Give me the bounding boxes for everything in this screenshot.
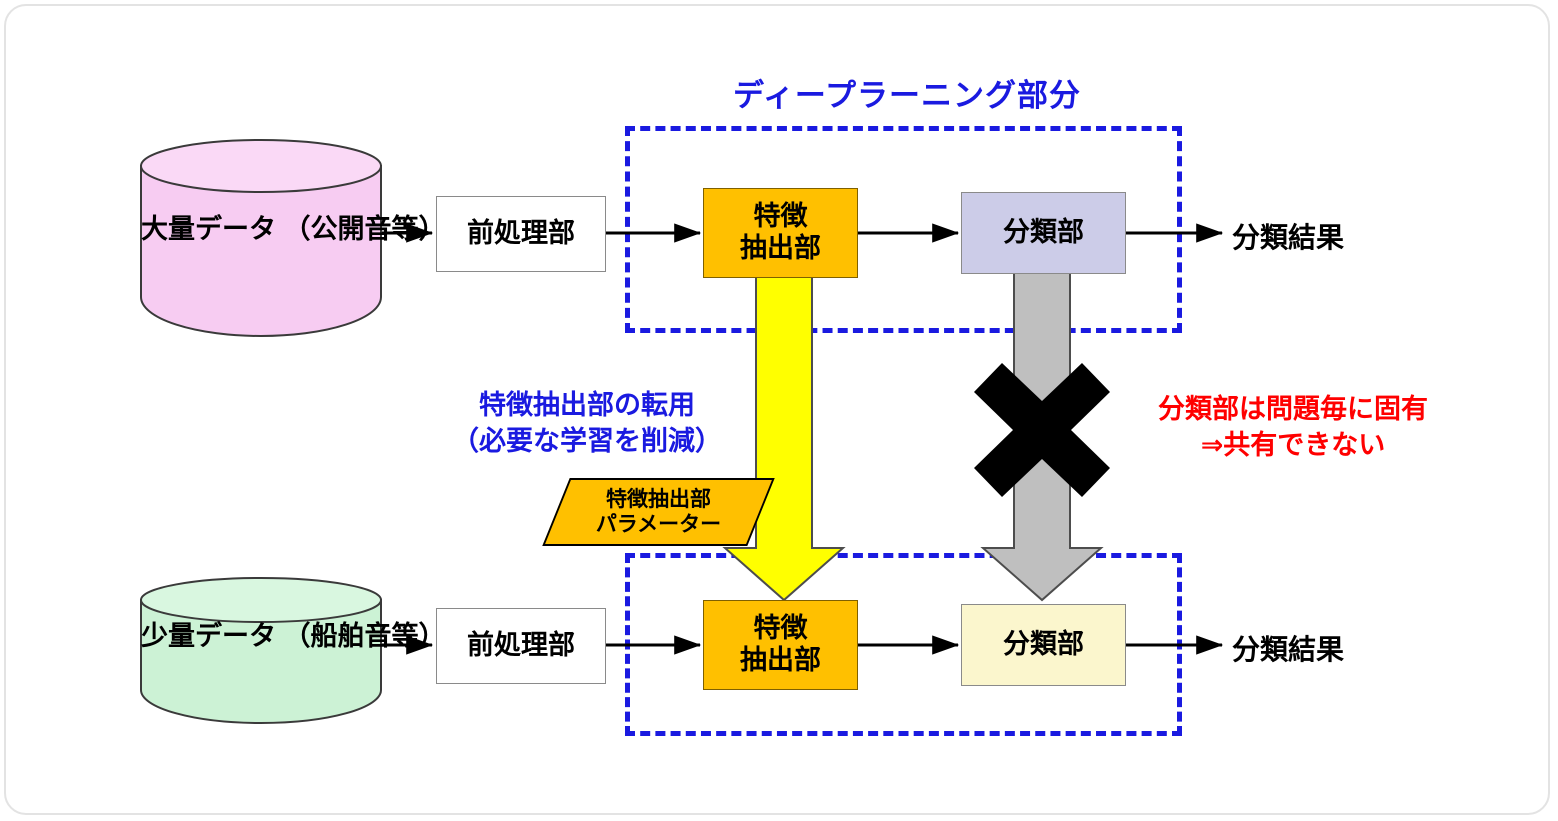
- transfer-note: 特徴抽出部の転用 （必要な学習を削減）: [424, 388, 750, 459]
- parameter-tag-label: 特徴抽出部 パラメーター: [556, 478, 761, 546]
- parameter-tag: 特徴抽出部 パラメーター: [556, 478, 761, 546]
- feature-extractor-box-bottom[interactable]: 特徴 抽出部: [703, 600, 858, 690]
- diagram-canvas: ディープラーニング部分: [0, 0, 1558, 821]
- blocked-note: 分類部は問題毎に固有 ⇒共有できない: [1128, 392, 1458, 463]
- result-label-top: 分類結果: [1232, 216, 1344, 256]
- deep-learning-section-title: ディープラーニング部分: [733, 80, 1081, 111]
- source-cylinder-top-wrap: 大量データ （公開音等）: [141, 166, 381, 323]
- source-cylinder-bottom-wrap: 少量データ （船舶音等）: [141, 600, 381, 712]
- result-label-bottom: 分類結果: [1232, 628, 1344, 668]
- source-label-top: 大量データ （公開音等）: [141, 213, 381, 246]
- preprocess-box-bottom[interactable]: 前処理部: [436, 608, 606, 684]
- classifier-box-bottom[interactable]: 分類部: [961, 604, 1126, 686]
- source-label-bottom: 少量データ （船舶音等）: [141, 620, 381, 653]
- feature-extractor-box-top[interactable]: 特徴 抽出部: [703, 188, 858, 278]
- classifier-box-top[interactable]: 分類部: [961, 192, 1126, 274]
- preprocess-box-top[interactable]: 前処理部: [436, 196, 606, 272]
